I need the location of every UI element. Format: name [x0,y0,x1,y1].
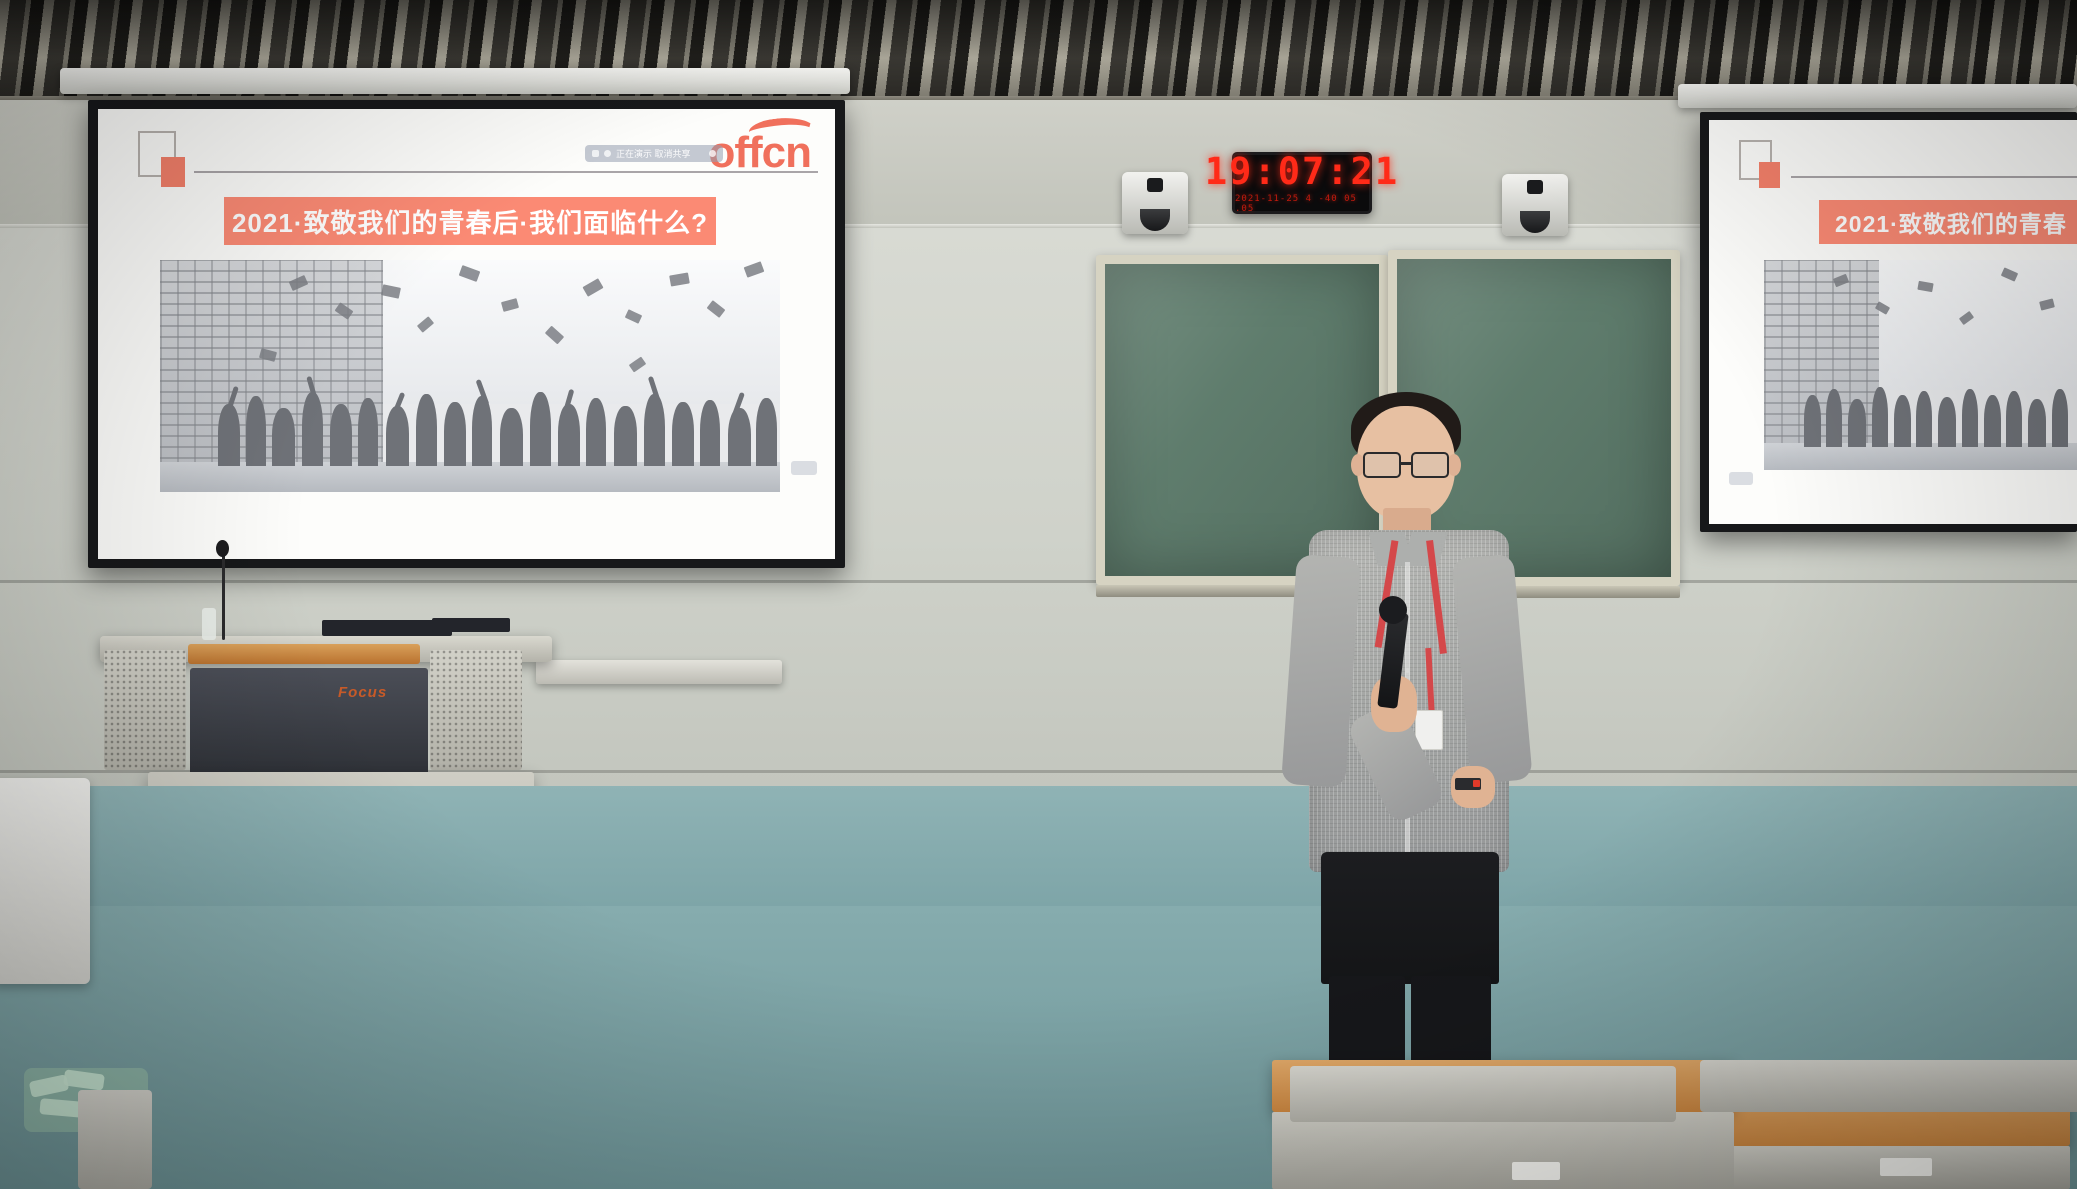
photo-sky [1873,260,2077,390]
photo-sky [371,260,780,404]
slide-title-text: 2021·致敬我们的青春后·我们面临什么? [232,203,708,240]
eyeglasses-bridge [1401,462,1413,465]
crowd-person [1938,397,1956,447]
slide-page-chip-left[interactable] [791,461,817,475]
crowd-person [558,404,580,466]
student-chair-2[interactable] [1700,1060,2077,1112]
slide-right: 2021·致敬我们的青春 [1709,120,2077,524]
crowd-person [614,406,637,466]
user-icon [592,150,599,157]
microphone-head-icon [1379,596,1407,624]
slide-header-rule [194,171,818,173]
eyeglasses-lens-right [1411,452,1449,478]
wall-seam-upper [0,580,2077,583]
presenter [1255,380,1555,1080]
photo-ground [160,462,780,492]
crowd-person [416,394,437,466]
podium-keyboard-tray[interactable] [536,660,782,684]
podium-speaker-grill-left [104,650,186,770]
projector-screen-housing-left [60,68,850,94]
desk-label-tag-1 [1512,1162,1560,1180]
slide-logo-mark [138,131,198,191]
logo-square-fill [161,157,185,187]
screenshare-toolbar[interactable]: 正在演示 取消共享 [585,145,723,162]
crowd-person [272,408,295,466]
projector-screen-housing-right [1678,84,2077,108]
microphone-icon[interactable] [604,150,611,157]
podium-brand-label: Focus [338,684,387,701]
crowd-person [586,398,606,466]
more-icon[interactable] [709,150,716,157]
crowd-person [756,398,777,466]
slide-title-banner-right: 2021·致敬我们的青春 [1819,200,2077,244]
crowd-person [444,402,466,466]
crowd-person [1804,395,1821,447]
clock-date-display: 2021-11-25 4 -40 05 .05 [1235,194,1369,214]
podium-microphone-head [216,540,229,557]
clicker-led-icon [1473,780,1480,787]
crowd-person [500,408,523,466]
student-desk-front-1 [1272,1112,1734,1189]
podium-microphone-stand [222,548,225,640]
podium-laptop-lid[interactable] [432,618,510,632]
crowd-person [218,404,240,466]
slide-page-chip-right[interactable] [1729,472,1753,485]
slide-left: offcn 正在演示 取消共享 2021·致敬我们的青春后·我们面临什么? [98,109,835,559]
slide-photo-graduation [160,260,780,492]
projection-screen-left[interactable]: offcn 正在演示 取消共享 2021·致敬我们的青春后·我们面临什么? [88,100,845,568]
crowd-person [1894,395,1911,447]
plastic-bottle [63,1069,105,1090]
crowd-person [1916,391,1932,447]
camera-lens-icon [1527,180,1543,194]
crowd-person [1984,395,2001,447]
crowd-person [1872,387,1888,447]
wall-speaker-left [1122,172,1188,234]
slide-photo-graduation-right [1764,260,2077,470]
offcn-logo: offcn [708,131,811,175]
podium-control-panel[interactable] [190,668,428,776]
crowd-person [330,404,352,466]
presenter-pants [1321,852,1499,984]
crowd-person [1962,389,1978,447]
speaker-dome [1520,211,1550,233]
clock-time-display: 19:07:21 [1205,153,1399,190]
crowd-person [2052,389,2068,447]
slide-title-text-right: 2021·致敬我们的青春 [1835,205,2067,239]
wall-digital-clock: 19:07:21 2021-11-25 4 -40 05 .05 [1232,152,1372,214]
desk-label-tag-2 [1880,1158,1932,1176]
student-chair-1[interactable] [1290,1066,1676,1122]
slide-title-banner: 2021·致敬我们的青春后·我们面临什么? [224,197,716,245]
lecture-hall-scene: 19:07:21 2021-11-25 4 -40 05 .05 offcn 正… [0,0,2077,1189]
podium-wood-trim [188,644,420,664]
crowd-person [1826,389,1842,447]
slide-logo-mark-right [1739,140,1791,192]
crowd-person [358,398,378,466]
side-chair[interactable] [78,1090,152,1189]
water-bottle[interactable] [202,608,216,640]
crowd-person [2028,399,2046,447]
crowd-person [386,406,409,466]
crowd-person [728,408,751,466]
wall-speaker-right [1502,174,1568,236]
projection-screen-right[interactable]: 2021·致敬我们的青春 [1700,112,2077,532]
crowd-person [644,394,665,466]
crowd-person [672,402,694,466]
crowd-person [2006,391,2022,447]
slide-header-rule-right [1791,176,2077,178]
logo-square-fill [1759,162,1780,188]
podium-speaker-grill-right [430,650,522,770]
eyeglasses-lens-left [1363,452,1401,478]
crowd-person [246,396,266,466]
camera-lens-icon [1147,178,1163,192]
screenshare-status-text: 正在演示 取消共享 [616,147,704,160]
stage-floor [0,786,2077,906]
crowd-person [1848,399,1866,447]
speaker-dome [1140,209,1170,231]
shirt-button [1405,668,1410,673]
presenter-ear-right [1447,454,1461,476]
crowd-person [472,396,492,466]
waste-bin[interactable] [0,778,90,984]
crowd-person [530,392,551,466]
crowd-person [700,400,720,466]
crowd-person [302,392,323,466]
